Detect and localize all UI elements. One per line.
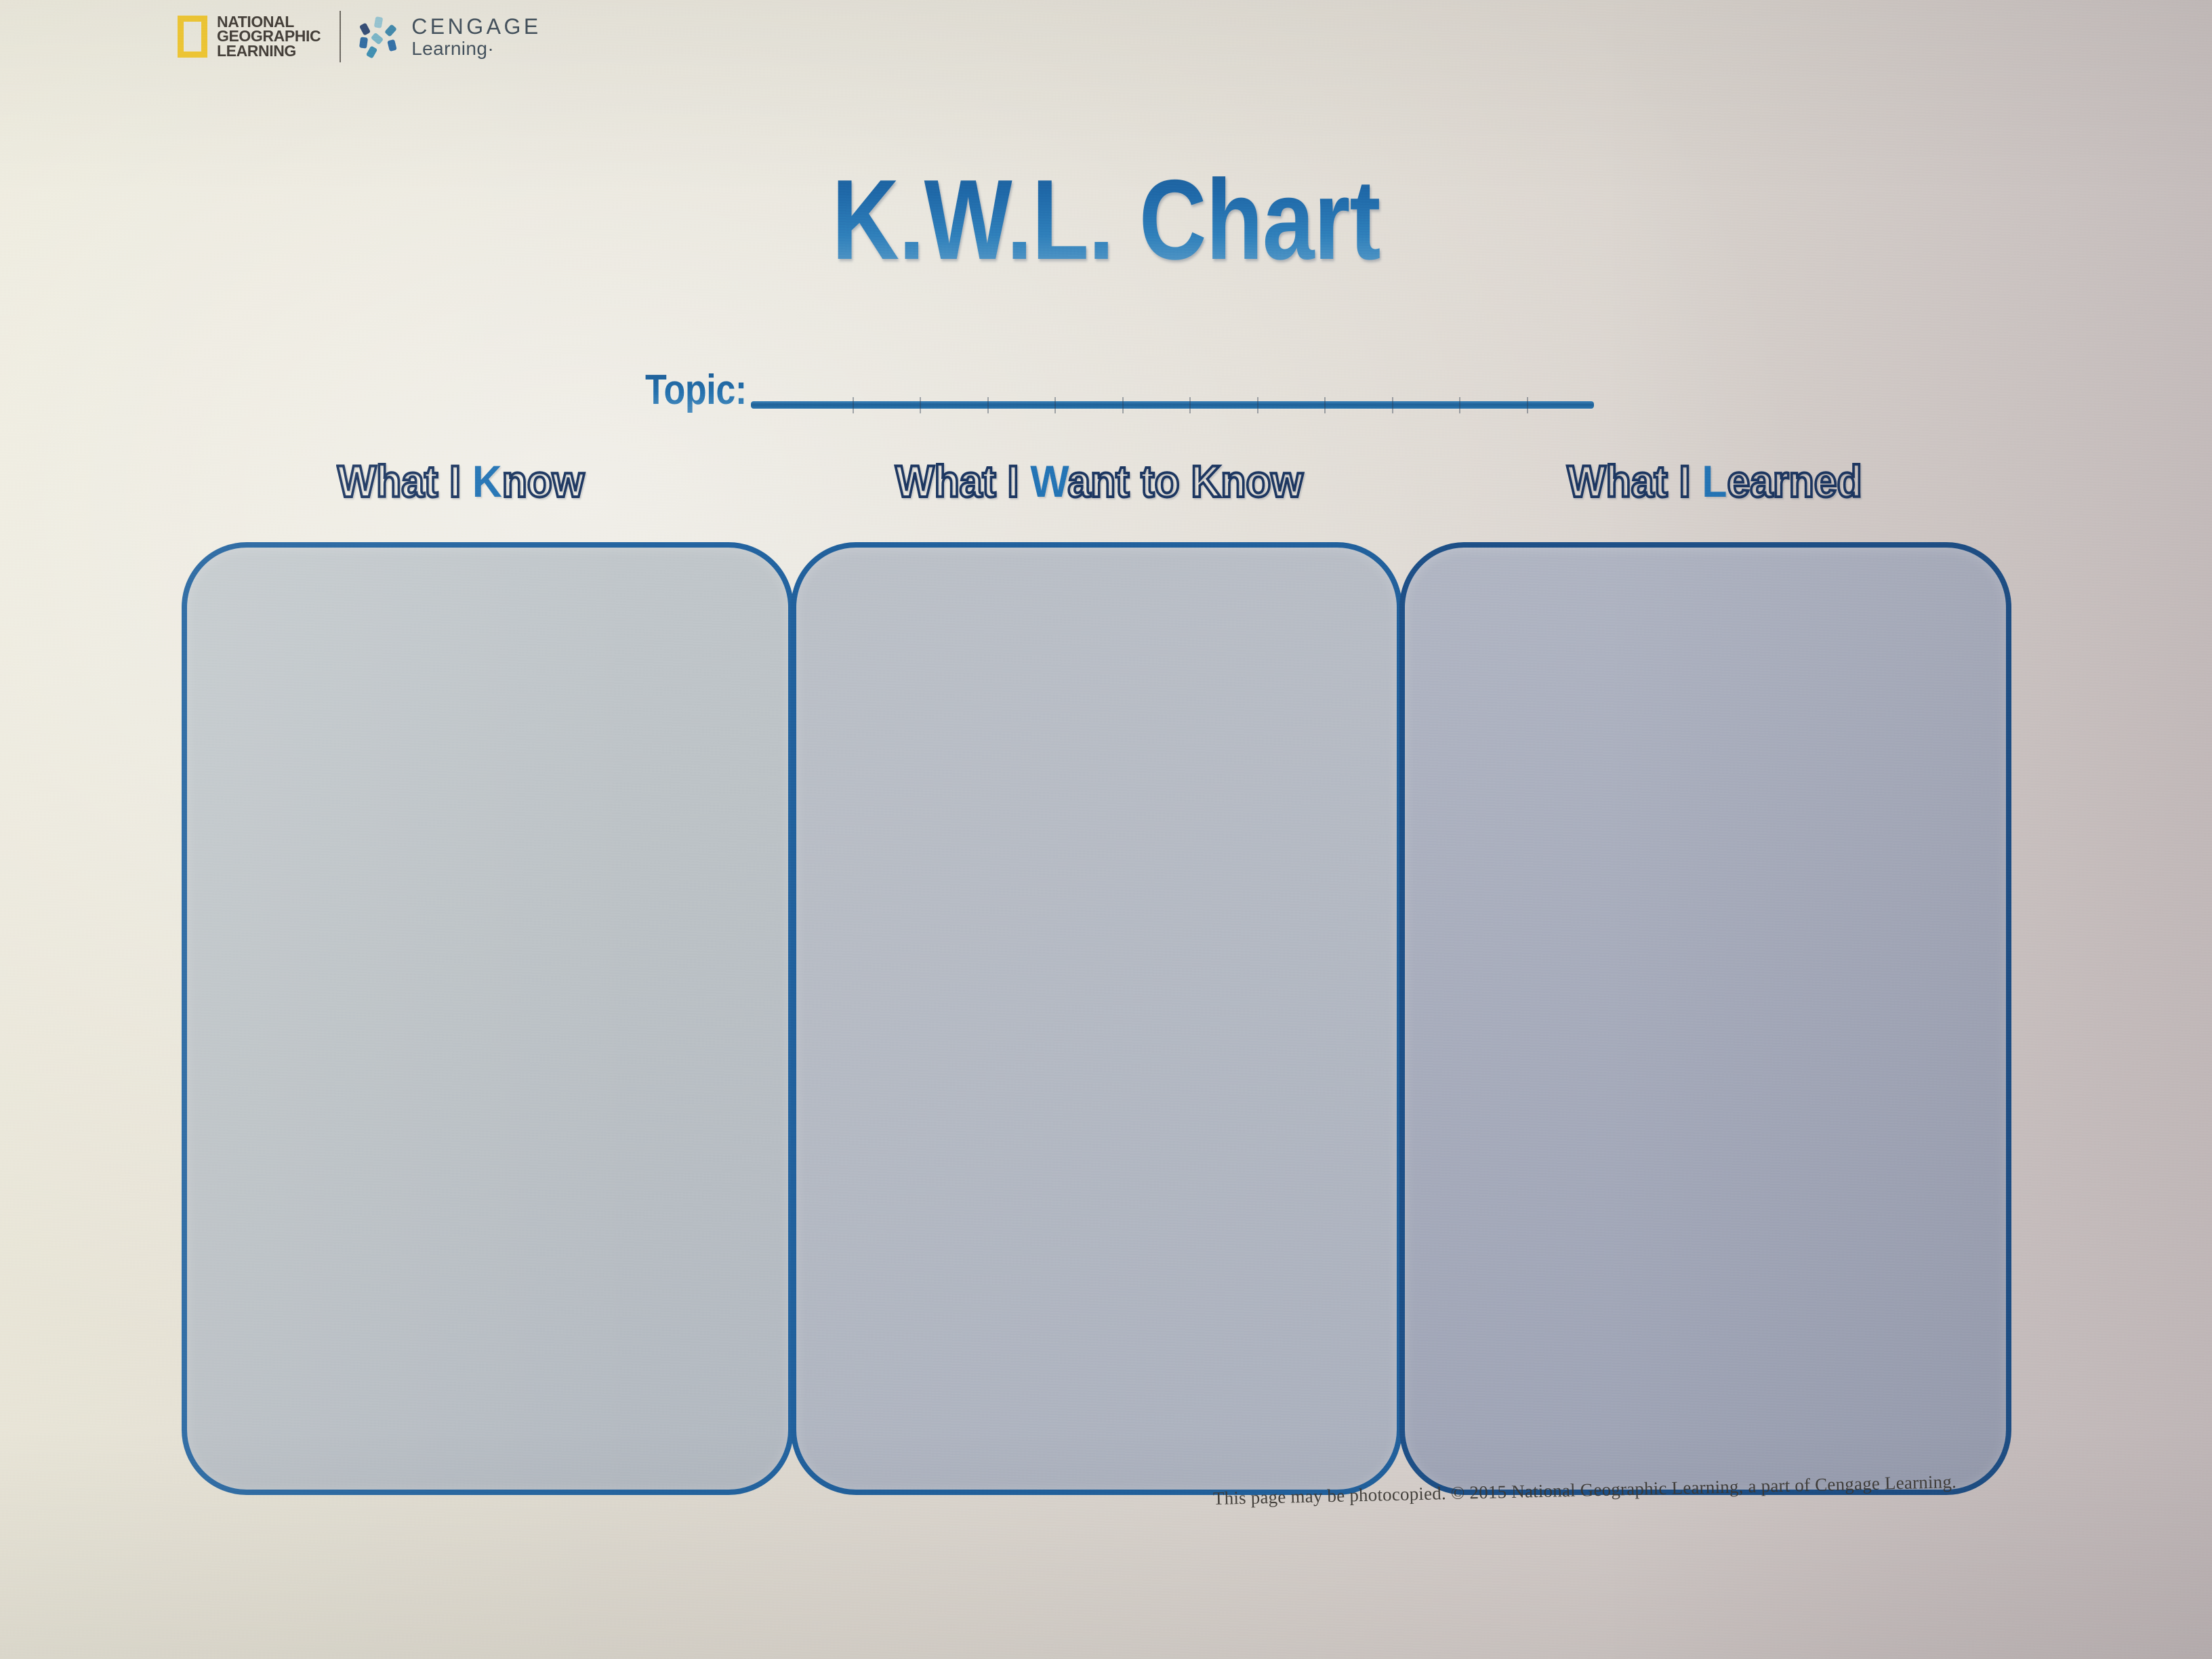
column-header-know: What I Know: [211, 455, 710, 507]
national-geographic-logo: NATIONAL GEOGRAPHIC LEARNING: [178, 15, 321, 59]
topic-write-in-line[interactable]: [751, 401, 1594, 409]
kwl-box-know[interactable]: [182, 542, 794, 1495]
learned-header-initial: L: [1702, 456, 1727, 506]
publisher-logo-lockup: NATIONAL GEOGRAPHIC LEARNING CENGAGE Lea…: [178, 11, 541, 62]
want-header-initial: W: [1030, 456, 1067, 506]
worksheet-page: NATIONAL GEOGRAPHIC LEARNING CENGAGE Lea…: [0, 0, 2212, 1659]
kwl-columns: [182, 542, 2011, 1495]
cengage-pinwheel-icon: [360, 16, 401, 58]
column-header-want: What I Want to Know: [819, 455, 1380, 507]
learned-header-prefix: What I: [1567, 456, 1702, 506]
cengage-wordmark: CENGAGE Learning·: [411, 16, 541, 58]
kwl-box-learned[interactable]: [1399, 542, 2011, 1495]
want-header-suffix: ant to Know: [1067, 456, 1303, 506]
want-header-prefix: What I: [895, 456, 1030, 506]
cengage-logo: CENGAGE Learning·: [360, 16, 541, 58]
know-header-initial: K: [472, 456, 502, 506]
topic-row: Topic:: [645, 366, 1594, 414]
learned-header-suffix: earned: [1727, 456, 1862, 506]
cengage-tagline: Learning·: [411, 39, 541, 58]
know-header-suffix: now: [502, 456, 584, 506]
ng-line-3: LEARNING: [217, 44, 321, 59]
topic-label: Topic:: [645, 366, 747, 414]
kwl-box-want[interactable]: [791, 542, 1403, 1495]
cengage-name: CENGAGE: [411, 16, 541, 37]
know-header-prefix: What I: [337, 456, 472, 506]
page-title: K.W.L. Chart: [199, 155, 2013, 285]
column-header-learned: What I Learned: [1465, 455, 1964, 507]
logo-divider: [340, 11, 341, 62]
national-geographic-frame-icon: [178, 16, 207, 58]
national-geographic-wordmark: NATIONAL GEOGRAPHIC LEARNING: [217, 15, 321, 59]
